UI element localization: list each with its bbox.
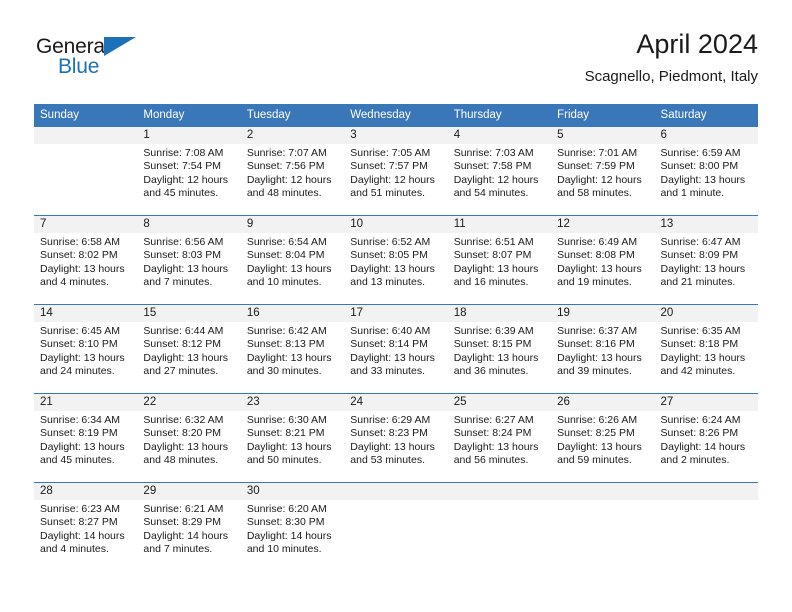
sunset-text: Sunset: 7:54 PM [143, 160, 236, 173]
sunrise-text: Sunrise: 6:29 AM [350, 414, 443, 427]
calendar-page: General Blue April 2024 Scagnello, Piedm… [0, 0, 792, 612]
daylight-text: Daylight: 13 hours [143, 352, 236, 365]
calendar-day-cell[interactable]: 14Sunrise: 6:45 AMSunset: 8:10 PMDayligh… [34, 305, 137, 393]
calendar-week-rows: 1Sunrise: 7:08 AMSunset: 7:54 PMDaylight… [34, 127, 758, 571]
calendar-day-cell[interactable]: 5Sunrise: 7:01 AMSunset: 7:59 PMDaylight… [551, 127, 654, 215]
sunset-text: Sunset: 7:56 PM [247, 160, 340, 173]
daylight-text: Daylight: 12 hours [247, 174, 340, 187]
calendar-day-cell[interactable]: 21Sunrise: 6:34 AMSunset: 8:19 PMDayligh… [34, 394, 137, 482]
day-number: 11 [448, 216, 551, 233]
daylight-text-cont: and 54 minutes. [454, 187, 547, 200]
sunset-text: Sunset: 8:13 PM [247, 338, 340, 351]
calendar-day-cell[interactable]: 22Sunrise: 6:32 AMSunset: 8:20 PMDayligh… [137, 394, 240, 482]
day-number [34, 127, 137, 144]
day-number [551, 483, 654, 500]
day-details: Sunrise: 6:49 AMSunset: 8:08 PMDaylight:… [551, 233, 654, 290]
daylight-text-cont: and 39 minutes. [557, 365, 650, 378]
calendar-day-cell[interactable]: 4Sunrise: 7:03 AMSunset: 7:58 PMDaylight… [448, 127, 551, 215]
day-number [655, 483, 758, 500]
logo-text-blue: Blue [58, 54, 99, 80]
calendar-day-cell[interactable]: 2Sunrise: 7:07 AMSunset: 7:56 PMDaylight… [241, 127, 344, 215]
day-number: 19 [551, 305, 654, 322]
page-header: General Blue April 2024 Scagnello, Piedm… [0, 0, 792, 100]
day-details: Sunrise: 6:37 AMSunset: 8:16 PMDaylight:… [551, 322, 654, 379]
day-details: Sunrise: 6:24 AMSunset: 8:26 PMDaylight:… [655, 411, 758, 468]
sunset-text: Sunset: 8:21 PM [247, 427, 340, 440]
daylight-text-cont: and 45 minutes. [40, 454, 133, 467]
day-details: Sunrise: 7:01 AMSunset: 7:59 PMDaylight:… [551, 144, 654, 201]
sunset-text: Sunset: 8:27 PM [40, 516, 133, 529]
sunset-text: Sunset: 8:19 PM [40, 427, 133, 440]
day-details [34, 144, 137, 147]
calendar-day-cell[interactable]: 24Sunrise: 6:29 AMSunset: 8:23 PMDayligh… [344, 394, 447, 482]
sunset-text: Sunset: 8:29 PM [143, 516, 236, 529]
day-number: 9 [241, 216, 344, 233]
day-number: 3 [344, 127, 447, 144]
general-blue-logo: General Blue [36, 34, 176, 86]
day-number: 21 [34, 394, 137, 411]
daylight-text: Daylight: 13 hours [661, 263, 754, 276]
daylight-text-cont: and 13 minutes. [350, 276, 443, 289]
day-number: 24 [344, 394, 447, 411]
day-details: Sunrise: 6:21 AMSunset: 8:29 PMDaylight:… [137, 500, 240, 557]
daylight-text: Daylight: 13 hours [143, 441, 236, 454]
day-details [551, 500, 654, 503]
day-number: 7 [34, 216, 137, 233]
sunrise-text: Sunrise: 7:01 AM [557, 147, 650, 160]
daylight-text-cont: and 4 minutes. [40, 276, 133, 289]
daylight-text-cont: and 21 minutes. [661, 276, 754, 289]
day-details: Sunrise: 6:23 AMSunset: 8:27 PMDaylight:… [34, 500, 137, 557]
weekday-header-row: SundayMondayTuesdayWednesdayThursdayFrid… [34, 104, 758, 127]
daylight-text: Daylight: 13 hours [40, 263, 133, 276]
daylight-text: Daylight: 13 hours [350, 263, 443, 276]
sunset-text: Sunset: 8:10 PM [40, 338, 133, 351]
daylight-text: Daylight: 12 hours [557, 174, 650, 187]
daylight-text-cont: and 24 minutes. [40, 365, 133, 378]
daylight-text: Daylight: 13 hours [661, 174, 754, 187]
calendar-day-cell[interactable]: 28Sunrise: 6:23 AMSunset: 8:27 PMDayligh… [34, 483, 137, 571]
sunrise-text: Sunrise: 6:21 AM [143, 503, 236, 516]
calendar-week-row: 21Sunrise: 6:34 AMSunset: 8:19 PMDayligh… [34, 393, 758, 482]
calendar-day-cell[interactable]: 15Sunrise: 6:44 AMSunset: 8:12 PMDayligh… [137, 305, 240, 393]
daylight-text: Daylight: 12 hours [350, 174, 443, 187]
sunrise-text: Sunrise: 6:32 AM [143, 414, 236, 427]
daylight-text-cont: and 27 minutes. [143, 365, 236, 378]
sunset-text: Sunset: 8:04 PM [247, 249, 340, 262]
day-details: Sunrise: 6:32 AMSunset: 8:20 PMDaylight:… [137, 411, 240, 468]
day-number: 2 [241, 127, 344, 144]
calendar-day-cell[interactable]: 6Sunrise: 6:59 AMSunset: 8:00 PMDaylight… [655, 127, 758, 215]
day-details: Sunrise: 6:35 AMSunset: 8:18 PMDaylight:… [655, 322, 758, 379]
day-details: Sunrise: 6:30 AMSunset: 8:21 PMDaylight:… [241, 411, 344, 468]
calendar-day-cell[interactable]: 25Sunrise: 6:27 AMSunset: 8:24 PMDayligh… [448, 394, 551, 482]
daylight-text: Daylight: 14 hours [40, 530, 133, 543]
sunset-text: Sunset: 8:08 PM [557, 249, 650, 262]
sunrise-text: Sunrise: 6:27 AM [454, 414, 547, 427]
sunrise-text: Sunrise: 7:05 AM [350, 147, 443, 160]
daylight-text-cont: and 10 minutes. [247, 276, 340, 289]
day-number: 20 [655, 305, 758, 322]
daylight-text: Daylight: 13 hours [40, 441, 133, 454]
sunrise-text: Sunrise: 6:54 AM [247, 236, 340, 249]
day-details [448, 500, 551, 503]
day-details: Sunrise: 7:03 AMSunset: 7:58 PMDaylight:… [448, 144, 551, 201]
day-number: 23 [241, 394, 344, 411]
sunrise-text: Sunrise: 6:34 AM [40, 414, 133, 427]
daylight-text-cont: and 7 minutes. [143, 543, 236, 556]
day-number: 10 [344, 216, 447, 233]
day-number: 17 [344, 305, 447, 322]
day-details: Sunrise: 6:51 AMSunset: 8:07 PMDaylight:… [448, 233, 551, 290]
day-details: Sunrise: 6:34 AMSunset: 8:19 PMDaylight:… [34, 411, 137, 468]
daylight-text: Daylight: 14 hours [661, 441, 754, 454]
day-details: Sunrise: 6:26 AMSunset: 8:25 PMDaylight:… [551, 411, 654, 468]
sunset-text: Sunset: 8:02 PM [40, 249, 133, 262]
sunset-text: Sunset: 8:20 PM [143, 427, 236, 440]
sunrise-text: Sunrise: 6:26 AM [557, 414, 650, 427]
calendar-day-cell[interactable]: 23Sunrise: 6:30 AMSunset: 8:21 PMDayligh… [241, 394, 344, 482]
day-details [655, 500, 758, 503]
sunrise-text: Sunrise: 6:51 AM [454, 236, 547, 249]
calendar-day-cell-empty [448, 483, 551, 571]
day-details: Sunrise: 6:42 AMSunset: 8:13 PMDaylight:… [241, 322, 344, 379]
daylight-text-cont: and 53 minutes. [350, 454, 443, 467]
day-number: 14 [34, 305, 137, 322]
calendar-day-cell[interactable]: 3Sunrise: 7:05 AMSunset: 7:57 PMDaylight… [344, 127, 447, 215]
daylight-text-cont: and 59 minutes. [557, 454, 650, 467]
calendar-day-cell[interactable]: 9Sunrise: 6:54 AMSunset: 8:04 PMDaylight… [241, 216, 344, 304]
day-number: 4 [448, 127, 551, 144]
daylight-text: Daylight: 13 hours [454, 352, 547, 365]
sunrise-text: Sunrise: 6:30 AM [247, 414, 340, 427]
sunrise-text: Sunrise: 6:59 AM [661, 147, 754, 160]
sunset-text: Sunset: 7:59 PM [557, 160, 650, 173]
day-details: Sunrise: 6:39 AMSunset: 8:15 PMDaylight:… [448, 322, 551, 379]
day-number: 18 [448, 305, 551, 322]
calendar-day-cell[interactable]: 7Sunrise: 6:58 AMSunset: 8:02 PMDaylight… [34, 216, 137, 304]
daylight-text: Daylight: 13 hours [557, 263, 650, 276]
day-number: 16 [241, 305, 344, 322]
day-number: 6 [655, 127, 758, 144]
calendar-week-row: 14Sunrise: 6:45 AMSunset: 8:10 PMDayligh… [34, 304, 758, 393]
daylight-text: Daylight: 13 hours [350, 441, 443, 454]
calendar-day-cell[interactable]: 26Sunrise: 6:26 AMSunset: 8:25 PMDayligh… [551, 394, 654, 482]
daylight-text: Daylight: 13 hours [454, 441, 547, 454]
day-details [344, 500, 447, 503]
page-title: April 2024 [585, 28, 758, 61]
daylight-text: Daylight: 13 hours [40, 352, 133, 365]
day-number: 12 [551, 216, 654, 233]
day-details: Sunrise: 6:56 AMSunset: 8:03 PMDaylight:… [137, 233, 240, 290]
daylight-text-cont: and 7 minutes. [143, 276, 236, 289]
daylight-text: Daylight: 13 hours [350, 352, 443, 365]
day-number [344, 483, 447, 500]
calendar-day-cell[interactable]: 27Sunrise: 6:24 AMSunset: 8:26 PMDayligh… [655, 394, 758, 482]
calendar-day-cell[interactable]: 30Sunrise: 6:20 AMSunset: 8:30 PMDayligh… [241, 483, 344, 571]
calendar-day-cell-empty [551, 483, 654, 571]
calendar-day-cell[interactable]: 11Sunrise: 6:51 AMSunset: 8:07 PMDayligh… [448, 216, 551, 304]
day-details: Sunrise: 6:27 AMSunset: 8:24 PMDaylight:… [448, 411, 551, 468]
calendar-day-cell-empty [344, 483, 447, 571]
sunset-text: Sunset: 8:15 PM [454, 338, 547, 351]
sunset-text: Sunset: 8:23 PM [350, 427, 443, 440]
sunrise-text: Sunrise: 6:42 AM [247, 325, 340, 338]
daylight-text-cont: and 33 minutes. [350, 365, 443, 378]
day-details: Sunrise: 6:59 AMSunset: 8:00 PMDaylight:… [655, 144, 758, 201]
daylight-text: Daylight: 13 hours [557, 352, 650, 365]
daylight-text: Daylight: 13 hours [661, 352, 754, 365]
sunset-text: Sunset: 8:14 PM [350, 338, 443, 351]
weekday-header-friday: Friday [551, 104, 654, 127]
sunrise-text: Sunrise: 6:49 AM [557, 236, 650, 249]
day-details: Sunrise: 7:05 AMSunset: 7:57 PMDaylight:… [344, 144, 447, 201]
calendar-day-cell[interactable]: 20Sunrise: 6:35 AMSunset: 8:18 PMDayligh… [655, 305, 758, 393]
day-details: Sunrise: 6:47 AMSunset: 8:09 PMDaylight:… [655, 233, 758, 290]
daylight-text-cont: and 45 minutes. [143, 187, 236, 200]
day-number: 28 [34, 483, 137, 500]
daylight-text-cont: and 2 minutes. [661, 454, 754, 467]
day-details: Sunrise: 6:20 AMSunset: 8:30 PMDaylight:… [241, 500, 344, 557]
sunrise-text: Sunrise: 6:47 AM [661, 236, 754, 249]
sunset-text: Sunset: 8:18 PM [661, 338, 754, 351]
sunrise-text: Sunrise: 6:58 AM [40, 236, 133, 249]
day-details: Sunrise: 6:29 AMSunset: 8:23 PMDaylight:… [344, 411, 447, 468]
day-number: 30 [241, 483, 344, 500]
sunrise-text: Sunrise: 7:08 AM [143, 147, 236, 160]
calendar-day-cell[interactable]: 17Sunrise: 6:40 AMSunset: 8:14 PMDayligh… [344, 305, 447, 393]
weekday-header-thursday: Thursday [448, 104, 551, 127]
day-number: 27 [655, 394, 758, 411]
daylight-text-cont: and 58 minutes. [557, 187, 650, 200]
sunrise-text: Sunrise: 7:07 AM [247, 147, 340, 160]
sunrise-text: Sunrise: 6:23 AM [40, 503, 133, 516]
daylight-text-cont: and 56 minutes. [454, 454, 547, 467]
weekday-header-tuesday: Tuesday [241, 104, 344, 127]
sunrise-text: Sunrise: 6:40 AM [350, 325, 443, 338]
sunset-text: Sunset: 8:30 PM [247, 516, 340, 529]
day-number [448, 483, 551, 500]
calendar-day-cell-empty [655, 483, 758, 571]
weekday-header-wednesday: Wednesday [344, 104, 447, 127]
calendar-day-cell[interactable]: 19Sunrise: 6:37 AMSunset: 8:16 PMDayligh… [551, 305, 654, 393]
sunrise-text: Sunrise: 6:52 AM [350, 236, 443, 249]
calendar-day-cell[interactable]: 16Sunrise: 6:42 AMSunset: 8:13 PMDayligh… [241, 305, 344, 393]
sunset-text: Sunset: 8:12 PM [143, 338, 236, 351]
daylight-text: Daylight: 14 hours [247, 530, 340, 543]
daylight-text: Daylight: 13 hours [143, 263, 236, 276]
day-details: Sunrise: 7:07 AMSunset: 7:56 PMDaylight:… [241, 144, 344, 201]
daylight-text: Daylight: 13 hours [247, 441, 340, 454]
sunrise-text: Sunrise: 6:44 AM [143, 325, 236, 338]
sunset-text: Sunset: 8:03 PM [143, 249, 236, 262]
daylight-text: Daylight: 14 hours [143, 530, 236, 543]
calendar-grid: SundayMondayTuesdayWednesdayThursdayFrid… [34, 104, 758, 571]
calendar-day-cell[interactable]: 18Sunrise: 6:39 AMSunset: 8:15 PMDayligh… [448, 305, 551, 393]
sunset-text: Sunset: 8:26 PM [661, 427, 754, 440]
day-number: 1 [137, 127, 240, 144]
weekday-header-monday: Monday [137, 104, 240, 127]
daylight-text: Daylight: 12 hours [143, 174, 236, 187]
calendar-day-cell[interactable]: 12Sunrise: 6:49 AMSunset: 8:08 PMDayligh… [551, 216, 654, 304]
sunset-text: Sunset: 8:05 PM [350, 249, 443, 262]
calendar-week-row: 7Sunrise: 6:58 AMSunset: 8:02 PMDaylight… [34, 215, 758, 304]
day-details: Sunrise: 6:44 AMSunset: 8:12 PMDaylight:… [137, 322, 240, 379]
calendar-day-cell[interactable]: 29Sunrise: 6:21 AMSunset: 8:29 PMDayligh… [137, 483, 240, 571]
sunrise-text: Sunrise: 6:39 AM [454, 325, 547, 338]
daylight-text-cont: and 51 minutes. [350, 187, 443, 200]
day-details: Sunrise: 6:52 AMSunset: 8:05 PMDaylight:… [344, 233, 447, 290]
daylight-text-cont: and 48 minutes. [143, 454, 236, 467]
daylight-text-cont: and 30 minutes. [247, 365, 340, 378]
calendar-day-cell[interactable]: 13Sunrise: 6:47 AMSunset: 8:09 PMDayligh… [655, 216, 758, 304]
calendar-day-cell[interactable]: 8Sunrise: 6:56 AMSunset: 8:03 PMDaylight… [137, 216, 240, 304]
daylight-text-cont: and 42 minutes. [661, 365, 754, 378]
title-block: April 2024 Scagnello, Piedmont, Italy [585, 28, 758, 86]
logo-triangle-icon [104, 37, 136, 56]
sunset-text: Sunset: 8:25 PM [557, 427, 650, 440]
day-number: 22 [137, 394, 240, 411]
sunset-text: Sunset: 7:57 PM [350, 160, 443, 173]
sunrise-text: Sunrise: 6:35 AM [661, 325, 754, 338]
daylight-text: Daylight: 13 hours [247, 352, 340, 365]
sunset-text: Sunset: 8:16 PM [557, 338, 650, 351]
sunrise-text: Sunrise: 7:03 AM [454, 147, 547, 160]
day-details: Sunrise: 7:08 AMSunset: 7:54 PMDaylight:… [137, 144, 240, 201]
daylight-text-cont: and 48 minutes. [247, 187, 340, 200]
daylight-text: Daylight: 13 hours [557, 441, 650, 454]
day-number: 29 [137, 483, 240, 500]
weekday-header-sunday: Sunday [34, 104, 137, 127]
daylight-text-cont: and 10 minutes. [247, 543, 340, 556]
day-number: 13 [655, 216, 758, 233]
weekday-header-saturday: Saturday [655, 104, 758, 127]
sunrise-text: Sunrise: 6:37 AM [557, 325, 650, 338]
day-number: 25 [448, 394, 551, 411]
day-details: Sunrise: 6:58 AMSunset: 8:02 PMDaylight:… [34, 233, 137, 290]
sunset-text: Sunset: 8:00 PM [661, 160, 754, 173]
daylight-text: Daylight: 13 hours [454, 263, 547, 276]
sunrise-text: Sunrise: 6:56 AM [143, 236, 236, 249]
sunset-text: Sunset: 8:09 PM [661, 249, 754, 262]
sunrise-text: Sunrise: 6:24 AM [661, 414, 754, 427]
sunset-text: Sunset: 7:58 PM [454, 160, 547, 173]
daylight-text-cont: and 36 minutes. [454, 365, 547, 378]
daylight-text: Daylight: 12 hours [454, 174, 547, 187]
daylight-text-cont: and 50 minutes. [247, 454, 340, 467]
day-details: Sunrise: 6:40 AMSunset: 8:14 PMDaylight:… [344, 322, 447, 379]
daylight-text-cont: and 19 minutes. [557, 276, 650, 289]
calendar-week-row: 1Sunrise: 7:08 AMSunset: 7:54 PMDaylight… [34, 127, 758, 215]
day-details: Sunrise: 6:45 AMSunset: 8:10 PMDaylight:… [34, 322, 137, 379]
calendar-day-cell-empty [34, 127, 137, 215]
day-number: 15 [137, 305, 240, 322]
day-number: 5 [551, 127, 654, 144]
calendar-day-cell[interactable]: 10Sunrise: 6:52 AMSunset: 8:05 PMDayligh… [344, 216, 447, 304]
calendar-week-row: 28Sunrise: 6:23 AMSunset: 8:27 PMDayligh… [34, 482, 758, 571]
day-details: Sunrise: 6:54 AMSunset: 8:04 PMDaylight:… [241, 233, 344, 290]
daylight-text: Daylight: 13 hours [247, 263, 340, 276]
calendar-day-cell[interactable]: 1Sunrise: 7:08 AMSunset: 7:54 PMDaylight… [137, 127, 240, 215]
daylight-text-cont: and 16 minutes. [454, 276, 547, 289]
daylight-text-cont: and 4 minutes. [40, 543, 133, 556]
day-number: 8 [137, 216, 240, 233]
page-subtitle: Scagnello, Piedmont, Italy [585, 67, 758, 86]
sunset-text: Sunset: 8:07 PM [454, 249, 547, 262]
daylight-text-cont: and 1 minute. [661, 187, 754, 200]
sunrise-text: Sunrise: 6:20 AM [247, 503, 340, 516]
day-number: 26 [551, 394, 654, 411]
sunset-text: Sunset: 8:24 PM [454, 427, 547, 440]
sunrise-text: Sunrise: 6:45 AM [40, 325, 133, 338]
